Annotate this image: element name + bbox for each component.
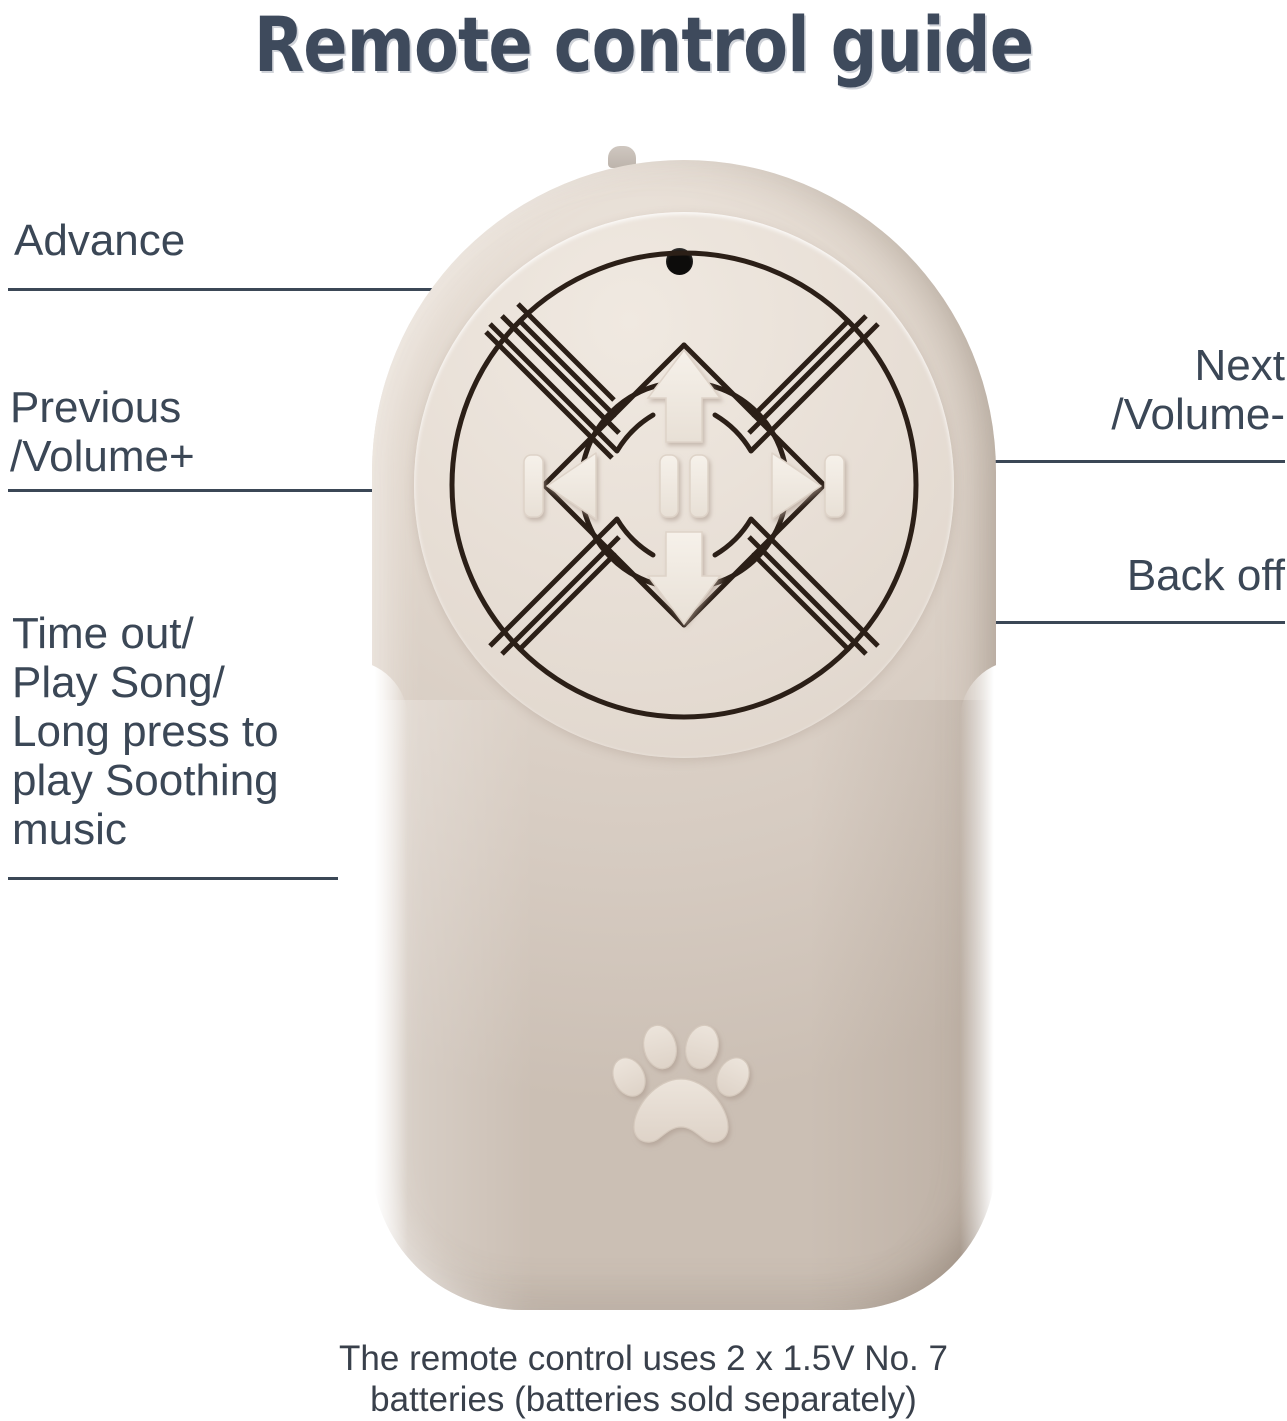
callout-label-timeout: Time out/ Play Song/ Long press to play … [12,609,279,854]
page-title: Remote control guide [90,2,1197,88]
skip-next-icon[interactable] [772,453,844,519]
pause-icon[interactable] [660,455,708,517]
callout-label-advance: Advance [14,216,185,265]
body-taper-left [338,660,408,1310]
remote-control-device [372,160,996,1310]
body-taper-right [960,660,1030,1310]
arrow-down-icon[interactable] [648,532,720,624]
remote-control-guide-figure: Remote control guide Advance Previous /V… [0,0,1287,1421]
battery-caption: The remote control uses 2 x 1.5V No. 7 b… [0,1338,1287,1420]
skip-previous-icon[interactable] [524,453,596,519]
paw-print-icon [610,1015,760,1153]
arrow-up-icon[interactable] [648,350,720,442]
callout-label-previous: Previous /Volume+ [10,383,195,481]
dpad-control[interactable] [414,212,954,758]
